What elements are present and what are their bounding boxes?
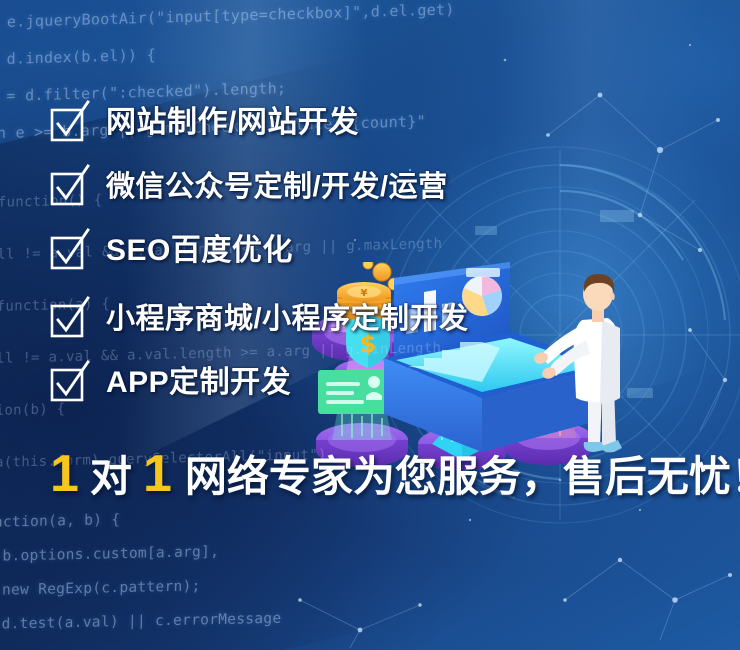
checklist-item-website[interactable]: 网站制作/网站开发 (52, 100, 692, 146)
headline-number-second: 1 (141, 448, 174, 500)
checklist-item-app[interactable]: APP定制开发 (52, 360, 692, 406)
promo-banner: ¥ $ (0, 0, 740, 650)
checklist-item-label: APP定制开发 (106, 366, 291, 400)
checklist-item-label: SEO百度优化 (106, 234, 293, 268)
checklist-item-miniprogram[interactable]: 小程序商城/小程序定制开发 (52, 296, 692, 342)
checkbox-checked-icon (52, 107, 84, 139)
checkbox-checked-icon (52, 367, 84, 399)
checklist-item-label: 微信公众号定制/开发/运营 (106, 170, 448, 204)
background-code-bottom: unction(a, b) { = b.options.custom[a.arg… (0, 490, 740, 650)
checklist-item-label: 网站制作/网站开发 (106, 106, 359, 140)
checkbox-checked-icon (52, 235, 84, 267)
checklist-item-label: 小程序商城/小程序定制开发 (106, 302, 469, 336)
headline-number-first: 1 (48, 448, 81, 500)
headline-between-word: 对 (90, 451, 132, 503)
promo-headline: 1 对 1 网络专家为您服务，售后无忧！ (48, 448, 740, 503)
service-checklist: 网站制作/网站开发 微信公众号定制/开发/运营 SEO百度优化 (52, 100, 692, 424)
checkbox-checked-icon (52, 303, 84, 335)
checkbox-checked-icon (52, 171, 84, 203)
checklist-item-wechat[interactable]: 微信公众号定制/开发/运营 (52, 164, 692, 210)
checklist-item-seo[interactable]: SEO百度优化 (52, 228, 692, 274)
headline-tail-text: 网络专家为您服务，售后无忧！ (185, 451, 740, 503)
